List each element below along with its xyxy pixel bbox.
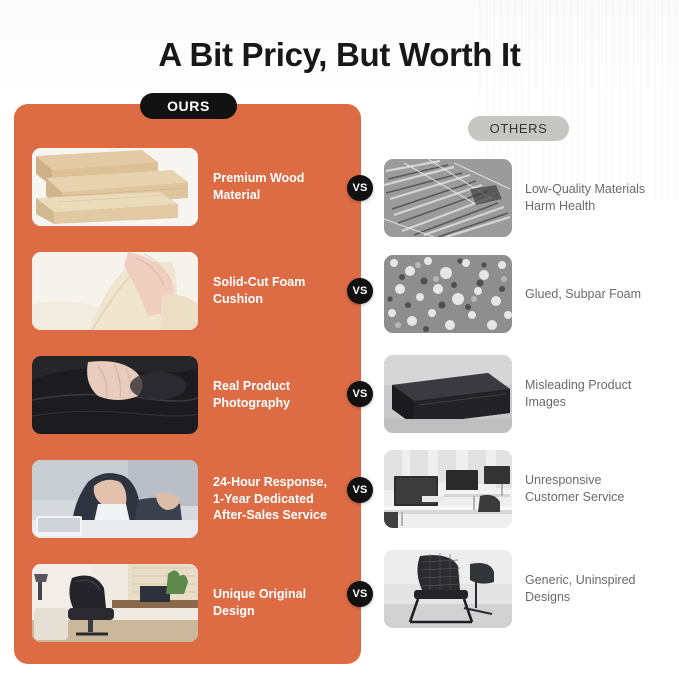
label-line: Glued, Subpar Foam bbox=[525, 286, 641, 303]
others-row-2: Glued, Subpar Foam bbox=[384, 255, 669, 333]
others-row-1: Low-Quality Materials Harm Health bbox=[384, 159, 669, 237]
black-office-chair-in-home-office-image bbox=[32, 564, 198, 642]
glued-foam-chunks-image bbox=[384, 255, 512, 333]
empty-office-desks-image bbox=[384, 450, 512, 528]
vs-label: VS bbox=[352, 484, 367, 496]
plain-black-cushion-render-image bbox=[384, 355, 512, 433]
label-line: Solid-Cut Foam bbox=[213, 274, 305, 291]
others-row-4: Unresponsive Customer Service bbox=[384, 450, 669, 528]
label-line: Designs bbox=[525, 589, 635, 606]
label-line: 24-Hour Response, bbox=[213, 474, 327, 491]
label-line: Harm Health bbox=[525, 198, 645, 215]
label-line: Generic, Uninspired bbox=[525, 572, 635, 589]
label-line: Images bbox=[525, 394, 631, 411]
stacked-wood-planks-image bbox=[32, 148, 198, 226]
vs-badge-4: VS bbox=[347, 477, 373, 503]
vs-badge-3: VS bbox=[347, 381, 373, 407]
ours-row-4: 24-Hour Response, 1-Year Dedicated After… bbox=[32, 460, 342, 538]
others-row-2-label: Glued, Subpar Foam bbox=[525, 286, 641, 303]
ours-badge: OURS bbox=[140, 93, 237, 119]
label-line: Design bbox=[213, 603, 306, 620]
label-line: Photography bbox=[213, 395, 290, 412]
label-line: After-Sales Service bbox=[213, 507, 327, 524]
ours-row-1-label: Premium Wood Material bbox=[213, 170, 304, 203]
ours-row-2-label: Solid-Cut Foam Cushion bbox=[213, 274, 305, 307]
vs-badge-2: VS bbox=[347, 278, 373, 304]
ours-row-5-label: Unique Original Design bbox=[213, 586, 306, 619]
hand-pressing-foam-image bbox=[32, 252, 198, 330]
others-badge-label: OTHERS bbox=[490, 121, 548, 136]
ours-row-3: Real Product Photography bbox=[32, 356, 342, 434]
page-title: A Bit Pricy, But Worth It bbox=[0, 36, 679, 74]
generic-black-mesh-chair-image bbox=[384, 550, 512, 628]
vs-label: VS bbox=[352, 285, 367, 297]
others-row-5: Generic, Uninspired Designs bbox=[384, 550, 669, 628]
vs-label: VS bbox=[352, 388, 367, 400]
support-agent-at-desk-image bbox=[32, 460, 198, 538]
label-line: Cushion bbox=[213, 291, 305, 308]
label-line: Customer Service bbox=[525, 489, 624, 506]
wood-scraps-splinters-image bbox=[384, 159, 512, 237]
others-row-3-label: Misleading Product Images bbox=[525, 377, 631, 411]
vs-badge-5: VS bbox=[347, 581, 373, 607]
label-line: Material bbox=[213, 187, 304, 204]
label-line: Misleading Product bbox=[525, 377, 631, 394]
vs-label: VS bbox=[352, 182, 367, 194]
vs-label: VS bbox=[352, 588, 367, 600]
label-line: Real Product bbox=[213, 378, 290, 395]
others-row-1-label: Low-Quality Materials Harm Health bbox=[525, 181, 645, 215]
ours-row-5: Unique Original Design bbox=[32, 564, 342, 642]
others-badge: OTHERS bbox=[468, 116, 569, 141]
ours-row-3-label: Real Product Photography bbox=[213, 378, 290, 411]
vs-badge-1: VS bbox=[347, 175, 373, 201]
label-line: Unique Original bbox=[213, 586, 306, 603]
ours-row-2: Solid-Cut Foam Cushion bbox=[32, 252, 342, 330]
label-line: Premium Wood bbox=[213, 170, 304, 187]
others-row-5-label: Generic, Uninspired Designs bbox=[525, 572, 635, 606]
hand-on-black-leather-seat-image bbox=[32, 356, 198, 434]
others-row-4-label: Unresponsive Customer Service bbox=[525, 472, 624, 506]
others-row-3: Misleading Product Images bbox=[384, 355, 669, 433]
ours-badge-label: OURS bbox=[167, 98, 210, 114]
ours-row-1: Premium Wood Material bbox=[32, 148, 342, 226]
label-line: 1-Year Dedicated bbox=[213, 491, 327, 508]
label-line: Low-Quality Materials bbox=[525, 181, 645, 198]
ours-row-4-label: 24-Hour Response, 1-Year Dedicated After… bbox=[213, 474, 327, 524]
label-line: Unresponsive bbox=[525, 472, 624, 489]
